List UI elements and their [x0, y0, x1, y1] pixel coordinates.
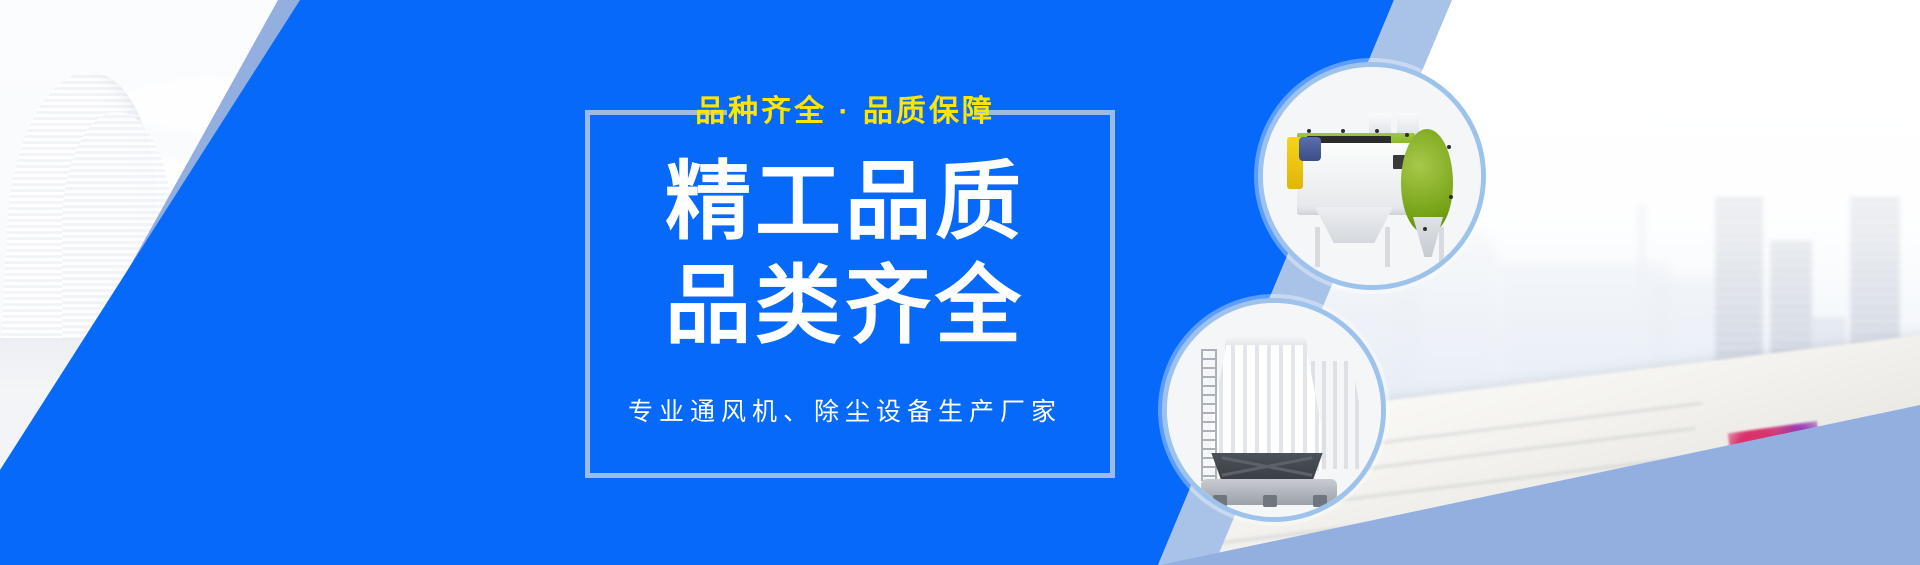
banner-headline: 精工品质 品类齐全 [585, 150, 1105, 358]
machine-bolt [1423, 227, 1427, 231]
machine-hopper [1315, 207, 1393, 243]
banner-subtitle: 专业通风机、除尘设备生产厂家 [585, 392, 1105, 432]
machine-leg [1439, 227, 1444, 267]
product-photo-cooling-tower [1167, 303, 1381, 517]
machine-bolt [1375, 129, 1379, 133]
cooling-tower-foot [1263, 495, 1277, 507]
promo-banner: 品种齐全 · 品质保障 精工品质 品类齐全 专业通风机、除尘设备生产厂家 [0, 0, 1920, 565]
machine-inlet-port [1369, 113, 1391, 135]
cooling-tower-shell [1211, 345, 1321, 471]
machine-bolt [1341, 129, 1345, 133]
machine-bolt [1447, 145, 1451, 149]
headline-line-2: 品类齐全 [585, 254, 1105, 358]
product-photo-separator [1263, 67, 1481, 285]
machine-bolt [1405, 133, 1409, 137]
headline-line-1: 精工品质 [665, 154, 1025, 250]
machine-bolt [1449, 195, 1453, 199]
cooling-tower-foot [1313, 495, 1327, 507]
cooling-tower-foot [1213, 495, 1227, 507]
machine-motor [1299, 137, 1321, 161]
product-circle-cooling-tower [1162, 298, 1386, 522]
machine-outlet-port [1397, 113, 1419, 135]
machine-leg [1315, 227, 1320, 267]
cloud-shape [30, 150, 190, 196]
machine-leg [1385, 227, 1390, 267]
product-circle-separator [1258, 62, 1486, 290]
machine-bolt [1307, 129, 1311, 133]
banner-tagline: 品种齐全 · 品质保障 [585, 92, 1105, 132]
